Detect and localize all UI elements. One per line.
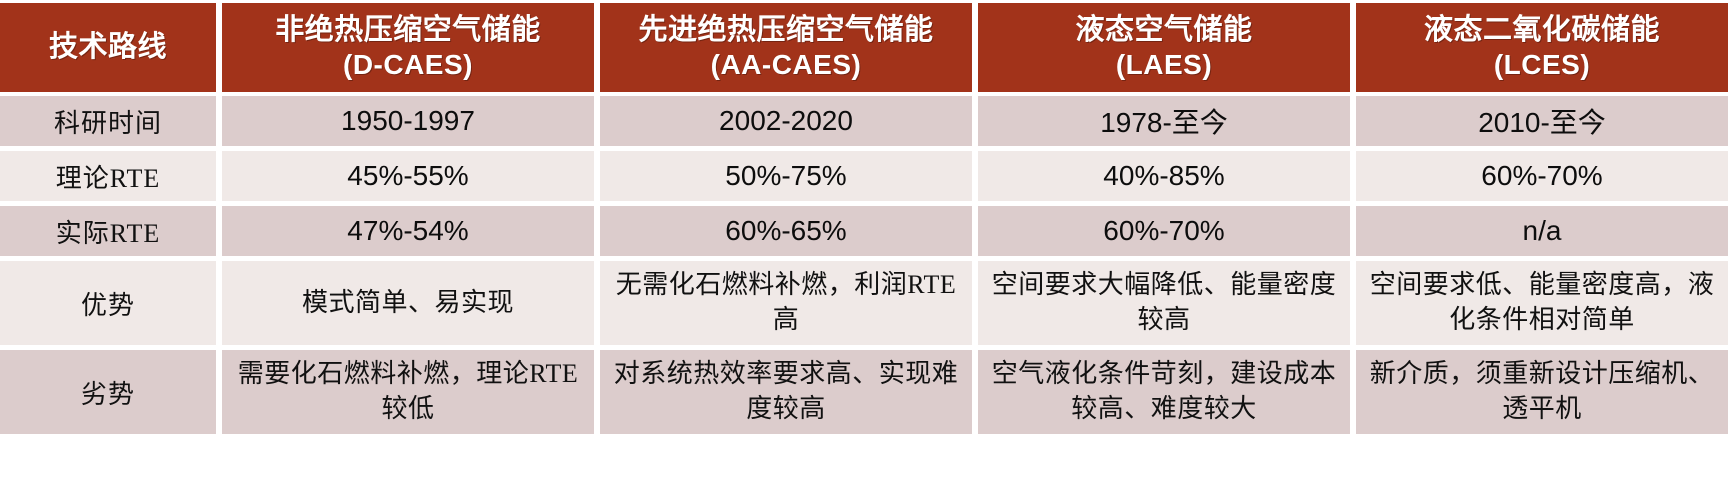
table-row-label: 科研时间: [54, 103, 162, 140]
table-cell-value: 1978-至今: [1100, 101, 1228, 141]
table-cell: 2010-至今: [1356, 96, 1728, 146]
table-header-cell-content: 液态二氧化碳储能(LCES): [1366, 13, 1718, 83]
table-header-cell-1: 非绝热压缩空气储能(D-CAES): [222, 3, 600, 92]
table-cell: 1950-1997: [222, 96, 600, 146]
table-cell-value: 无需化石燃料补燃，利润RTE高: [610, 268, 962, 338]
table-row-label-cell: 理论RTE: [0, 151, 222, 201]
table-cell: 新介质，须重新设计压缩机、透平机: [1356, 350, 1728, 434]
table-cell: 空间要求大幅降低、能量密度较高: [978, 261, 1356, 345]
table-header-cn-label: 先进绝热压缩空气储能: [610, 13, 962, 48]
table-cell-value: 空间要求低、能量密度高，液化条件相对简单: [1366, 268, 1718, 338]
table-cell: 对系统热效率要求高、实现难度较高: [600, 350, 978, 434]
table-cell: 60%-70%: [978, 206, 1356, 256]
table-row: 劣势需要化石燃料补燃，理论RTE较低对系统热效率要求高、实现难度较高空气液化条件…: [0, 350, 1728, 434]
table-row-label: 优势: [81, 285, 135, 322]
table-cell: 需要化石燃料补燃，理论RTE较低: [222, 350, 600, 434]
table-header-cell-content: 液态空气储能(LAES): [988, 13, 1340, 83]
table-cell: 60%-70%: [1356, 151, 1728, 201]
table-header-en-label: (LAES): [988, 48, 1340, 82]
table-cell-value: 45%-55%: [347, 160, 468, 192]
table-row: 科研时间1950-19972002-20201978-至今2010-至今: [0, 96, 1728, 146]
comparison-table: 技术路线非绝热压缩空气储能(D-CAES)先进绝热压缩空气储能(AA-CAES)…: [0, 0, 1728, 482]
table-body: 科研时间1950-19972002-20201978-至今2010-至今理论RT…: [0, 96, 1728, 434]
table-cell: 空气液化条件苛刻，建设成本较高、难度较大: [978, 350, 1356, 434]
table-cell: 40%-85%: [978, 151, 1356, 201]
table-header-cell-content: 技术路线: [10, 30, 206, 65]
table-cell-value: 50%-75%: [725, 160, 846, 192]
table-cell: 45%-55%: [222, 151, 600, 201]
table-cell-value: 60%-65%: [725, 215, 846, 247]
table-cell: 模式简单、易实现: [222, 261, 600, 345]
table-cell: 1978-至今: [978, 96, 1356, 146]
table-row: 优势模式简单、易实现无需化石燃料补燃，利润RTE高空间要求大幅降低、能量密度较高…: [0, 261, 1728, 345]
table-row-label: 劣势: [81, 374, 135, 411]
table-header-cn-label: 非绝热压缩空气储能: [232, 13, 584, 48]
table-cell: 60%-65%: [600, 206, 978, 256]
table-cell-value: 新介质，须重新设计压缩机、透平机: [1366, 357, 1718, 427]
table-cell-value: n/a: [1523, 215, 1562, 247]
table-header-cn-label: 技术路线: [10, 30, 206, 65]
table-cell-value: 空间要求大幅降低、能量密度较高: [988, 268, 1340, 338]
table-row-label: 理论RTE: [56, 158, 161, 195]
table-cell-value: 60%-70%: [1481, 160, 1602, 192]
table-cell-value: 需要化石燃料补燃，理论RTE较低: [232, 357, 584, 427]
table-header-cell-0: 技术路线: [0, 3, 222, 92]
table-cell-value: 60%-70%: [1103, 215, 1224, 247]
table-header-cell-3: 液态空气储能(LAES): [978, 3, 1356, 92]
table-row-label-cell: 优势: [0, 261, 222, 345]
table-row: 实际RTE47%-54%60%-65%60%-70%n/a: [0, 206, 1728, 256]
table-row: 理论RTE45%-55%50%-75%40%-85%60%-70%: [0, 151, 1728, 201]
table-cell-value: 空气液化条件苛刻，建设成本较高、难度较大: [988, 357, 1340, 427]
table-cell-value: 模式简单、易实现: [302, 286, 514, 321]
table-header-cell-4: 液态二氧化碳储能(LCES): [1356, 3, 1728, 92]
table-header-cn-label: 液态二氧化碳储能: [1366, 13, 1718, 48]
table-header-cell-2: 先进绝热压缩空气储能(AA-CAES): [600, 3, 978, 92]
table-header-en-label: (AA-CAES): [610, 48, 962, 82]
table-cell-value: 对系统热效率要求高、实现难度较高: [610, 357, 962, 427]
table-header-row: 技术路线非绝热压缩空气储能(D-CAES)先进绝热压缩空气储能(AA-CAES)…: [0, 3, 1728, 92]
table-cell: n/a: [1356, 206, 1728, 256]
table-cell: 47%-54%: [222, 206, 600, 256]
table-row-label-cell: 劣势: [0, 350, 222, 434]
table-header-en-label: (LCES): [1366, 48, 1718, 82]
table-cell-value: 47%-54%: [347, 215, 468, 247]
table-row-label-cell: 科研时间: [0, 96, 222, 146]
table-header-en-label: (D-CAES): [232, 48, 584, 82]
table-cell-value: 2002-2020: [719, 105, 853, 137]
table-header-cn-label: 液态空气储能: [988, 13, 1340, 48]
table-cell: 无需化石燃料补燃，利润RTE高: [600, 261, 978, 345]
table-cell-value: 2010-至今: [1478, 101, 1606, 141]
table-cell-value: 40%-85%: [1103, 160, 1224, 192]
table-row-label-cell: 实际RTE: [0, 206, 222, 256]
table-cell: 空间要求低、能量密度高，液化条件相对简单: [1356, 261, 1728, 345]
table-cell: 2002-2020: [600, 96, 978, 146]
table-cell: 50%-75%: [600, 151, 978, 201]
table-header-cell-content: 先进绝热压缩空气储能(AA-CAES): [610, 13, 962, 83]
table-row-label: 实际RTE: [56, 213, 161, 250]
table-cell-value: 1950-1997: [341, 105, 475, 137]
table-header-cell-content: 非绝热压缩空气储能(D-CAES): [232, 13, 584, 83]
